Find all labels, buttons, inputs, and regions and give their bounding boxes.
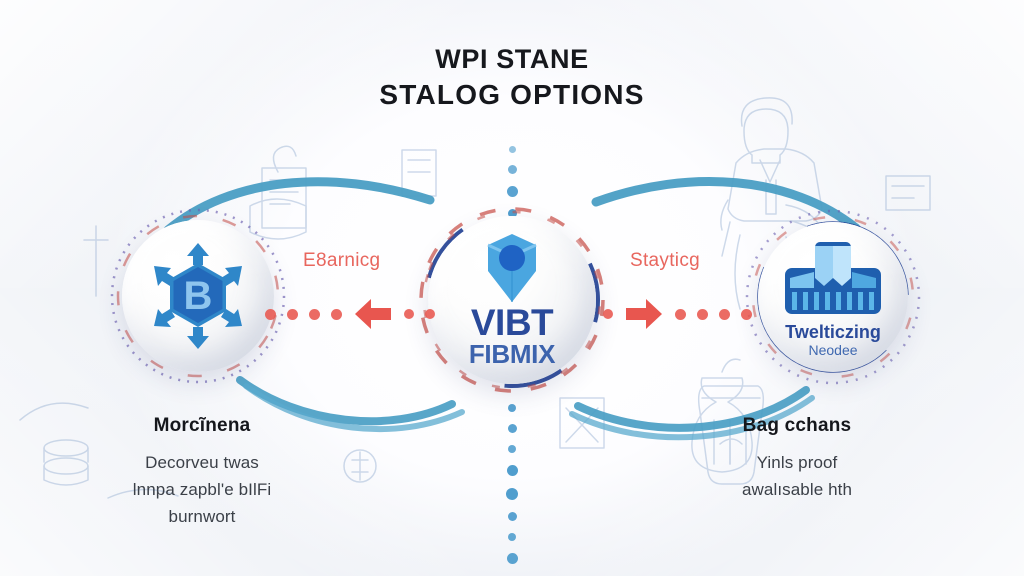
node-center-sublabel: FIBMIX	[469, 341, 555, 368]
node-right[interactable]: Twelticzing Neodee	[744, 208, 922, 386]
page-title-line-2: STALOG OPTIONS	[0, 77, 1024, 113]
node-center[interactable]: VIBT FIBMIX	[418, 206, 606, 394]
caption-left-body: Decorveu twas lnnpa zapbl'e bIlFi burnwo…	[77, 450, 327, 531]
node-left[interactable]: B	[108, 206, 288, 386]
node-center-label: VIBT	[469, 305, 555, 341]
node-right-sublabel: Neodee	[785, 342, 881, 359]
arrow-right-icon	[624, 297, 664, 331]
connector-dot	[425, 309, 435, 319]
bank-building-icon	[782, 236, 884, 318]
connector-label-left: E8arnicg	[303, 250, 380, 272]
node-left-content: B	[108, 206, 288, 386]
node-right-content: Twelticzing Neodee	[744, 208, 922, 386]
node-center-text: VIBT FIBMIX	[469, 305, 555, 369]
caption-left: Morcĩnena Decorveu twas lnnpa zapbl'e bI…	[77, 415, 327, 531]
connector-dot	[404, 309, 414, 319]
caption-left-heading: Morcĩnena	[77, 415, 327, 437]
page-title: WPI STANE STALOG OPTIONS	[0, 42, 1024, 113]
connector-dot	[697, 309, 708, 320]
spine-dots-bottom	[505, 398, 519, 576]
connector-dot	[603, 309, 613, 319]
svg-text:B: B	[184, 274, 213, 318]
connector-label-right: Stayticg	[630, 250, 700, 272]
node-right-label: Twelticzing	[785, 322, 881, 342]
gem-diamond-icon	[477, 231, 547, 305]
caption-right-heading: Bag cchans	[672, 415, 922, 437]
node-center-content: VIBT FIBMIX	[418, 206, 606, 394]
page-title-line-1: WPI STANE	[435, 44, 588, 74]
connector-dot	[309, 309, 320, 320]
connector-left	[265, 297, 435, 331]
caption-right: Bag cchans Yinls proof awalısable hth	[672, 415, 922, 504]
connector-dot	[741, 309, 752, 320]
connector-dot	[719, 309, 730, 320]
connector-dot	[331, 309, 342, 320]
caption-right-body: Yinls proof awalısable hth	[672, 450, 922, 504]
infographic-canvas: WPI STANE STALOG OPTIONS	[0, 0, 1024, 576]
connector-dot	[675, 309, 686, 320]
connector-dot	[265, 309, 276, 320]
arrow-left-icon	[353, 297, 393, 331]
node-right-text: Twelticzing Neodee	[785, 322, 881, 359]
connector-dot	[287, 309, 298, 320]
hexagon-b-distribute-icon: B	[139, 237, 257, 355]
connector-right	[603, 297, 752, 331]
